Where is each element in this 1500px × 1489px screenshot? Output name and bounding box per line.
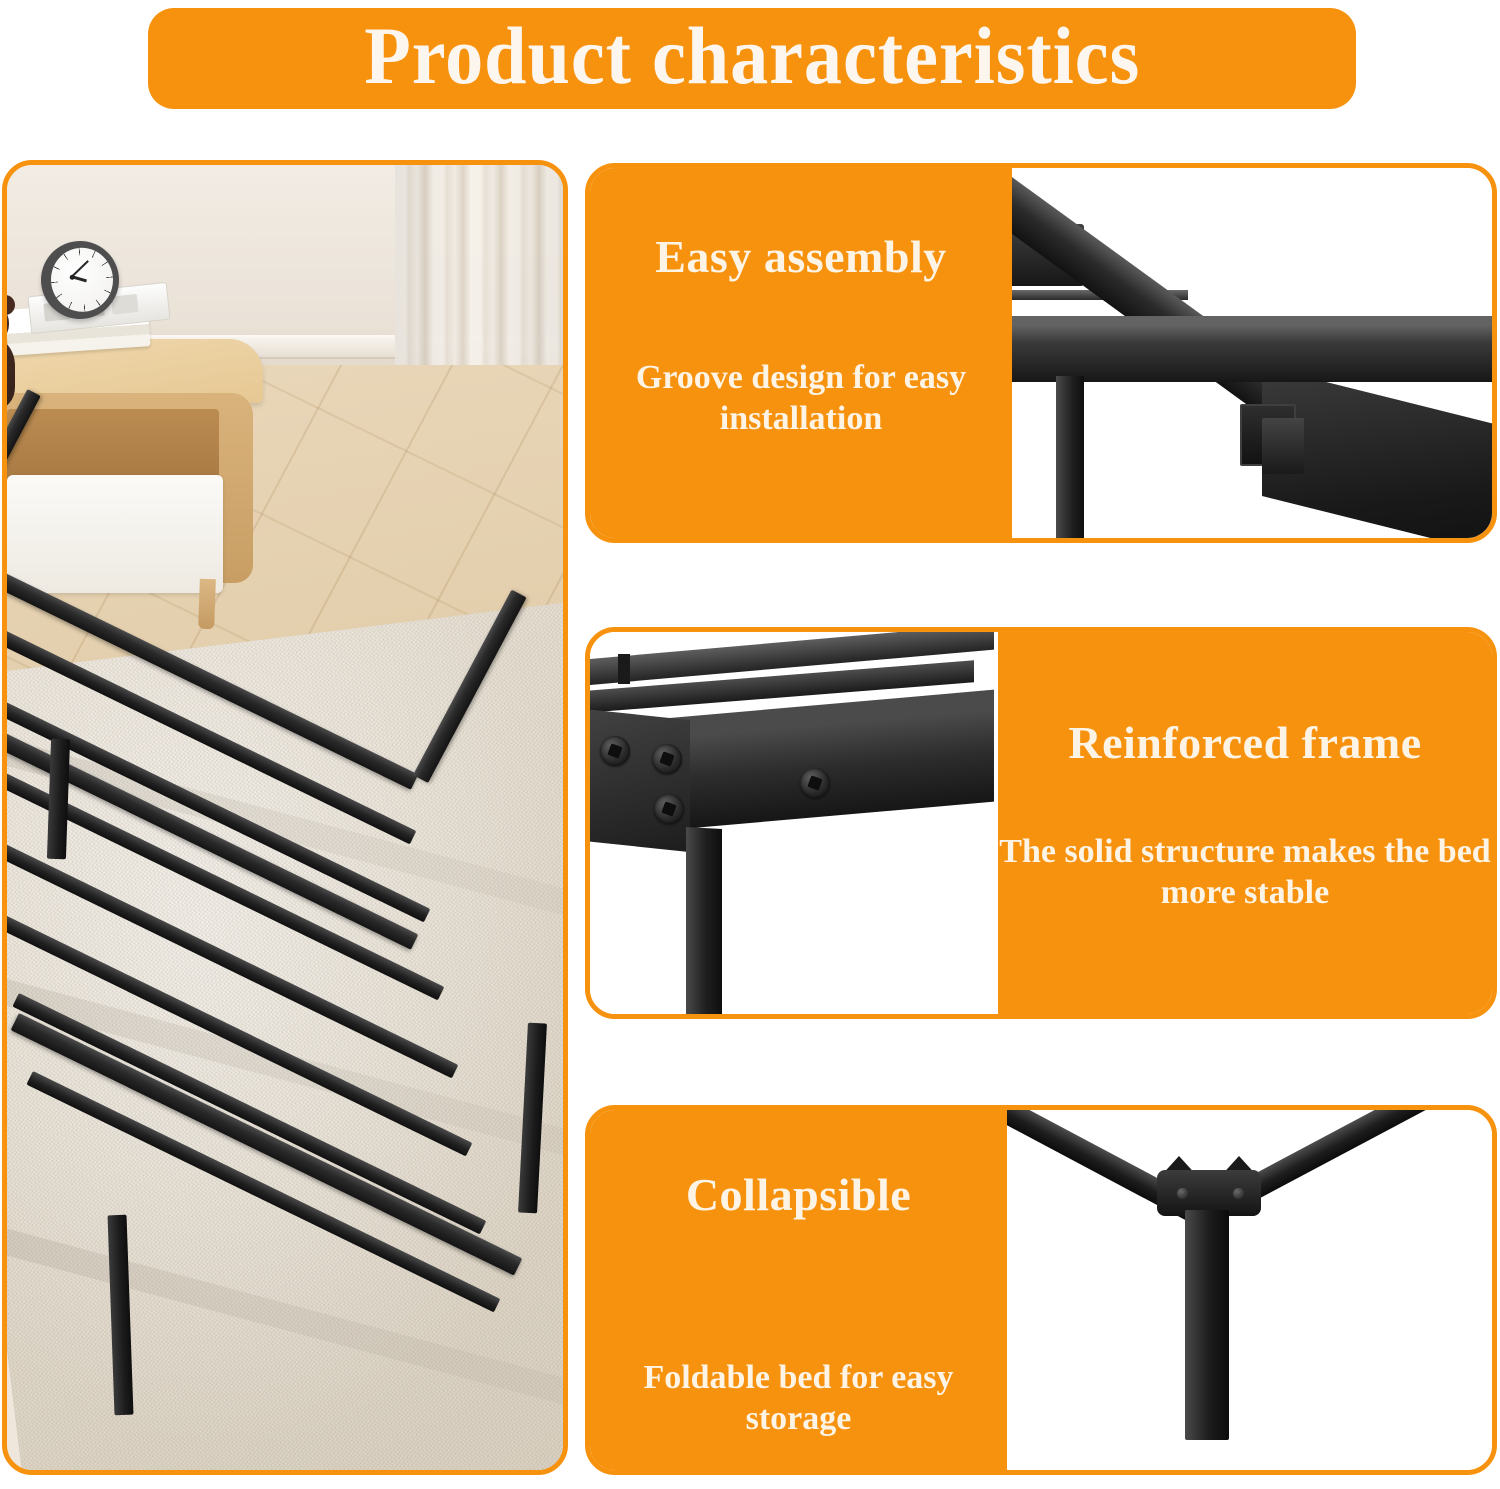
bed-end-rail <box>413 590 527 783</box>
feature-photo-groove-joint <box>1012 168 1492 538</box>
bed-slat <box>12 993 486 1234</box>
bed-leg <box>47 739 70 860</box>
feature-card-reinforced-frame: Reinforced frame The solid structure mak… <box>585 627 1497 1019</box>
bed-slat <box>26 1071 500 1312</box>
feature-subtitle: The solid structure makes the bed more s… <box>998 831 1492 914</box>
feature-text-pane: Easy assembly Groove design for easy ins… <box>590 168 1012 538</box>
bolt-icon <box>654 794 684 824</box>
product-characteristics-infographic: Product characteristics <box>0 0 1500 1489</box>
nightstand-open-shelf <box>7 409 219 483</box>
page-title: Product characteristics <box>364 15 1140 103</box>
bolt-icon <box>652 744 682 774</box>
hero-lifestyle-photo <box>2 160 568 1475</box>
feature-title: Easy assembly <box>655 230 946 283</box>
feature-text-pane: Reinforced frame The solid structure mak… <box>998 632 1492 1014</box>
hinge-rivet-icon <box>1177 1188 1188 1199</box>
feature-title: Collapsible <box>686 1168 911 1221</box>
bed-leg <box>518 1023 547 1214</box>
feature-text-pane: Collapsible Foldable bed for easy storag… <box>590 1110 1007 1470</box>
frame-leg <box>1056 376 1084 538</box>
bolt-icon <box>600 736 630 766</box>
page-title-banner: Product characteristics <box>148 8 1356 109</box>
frame-leg <box>686 827 722 1014</box>
bed-leg <box>108 1215 134 1416</box>
teddy-bear <box>7 301 19 409</box>
bedroom-scene <box>7 165 563 1470</box>
feature-subtitle: Groove design for easy installation <box>590 357 1012 440</box>
teddy-body <box>7 337 15 409</box>
feature-photo-folding-hinge <box>1007 1110 1492 1470</box>
metal-bed-frame <box>7 493 563 1393</box>
teddy-ear <box>7 295 15 315</box>
center-support-post <box>1185 1210 1229 1440</box>
bolt-icon <box>800 768 830 798</box>
frame-corner-bracket <box>590 708 690 852</box>
frame-main-rail <box>1012 316 1492 382</box>
hinge-rivet-icon <box>1233 1188 1244 1199</box>
feature-card-easy-assembly: Easy assembly Groove design for easy ins… <box>585 163 1497 543</box>
groove-tab <box>1262 418 1304 474</box>
feature-subtitle: Foldable bed for easy storage <box>590 1357 1007 1440</box>
feature-title: Reinforced frame <box>1068 716 1421 769</box>
frame-slat-gap <box>618 654 630 684</box>
feature-card-collapsible: Collapsible Foldable bed for easy storag… <box>585 1105 1497 1475</box>
feature-photo-bolted-corner <box>590 632 998 1014</box>
